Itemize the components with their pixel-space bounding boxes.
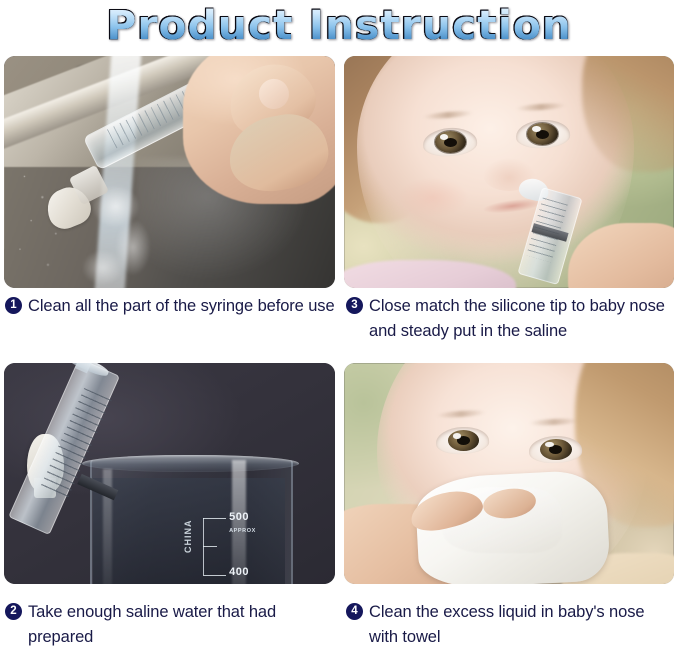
eye-glint-left bbox=[453, 433, 462, 439]
beaker-label-500: 500 bbox=[229, 511, 249, 523]
beaker-label-approx: APPROX bbox=[229, 528, 256, 534]
beaker-label-400: 400 bbox=[229, 566, 249, 578]
page-title: Product Instruction bbox=[107, 3, 573, 49]
photo-scene-step-1 bbox=[4, 56, 335, 288]
drawing-saline-photo: 500 APPROX 400 CHINA bbox=[4, 363, 335, 584]
step-number-badge-4: 4 bbox=[346, 603, 363, 620]
syringe-at-baby-nose-photo bbox=[344, 56, 674, 288]
step-number-badge-3: 3 bbox=[346, 297, 363, 314]
beaker-tick-400 bbox=[203, 575, 226, 576]
eye-glint-left bbox=[440, 134, 449, 140]
wiping-nose-photo bbox=[344, 363, 674, 584]
step-caption-3: 3 Close match the silicone tip to baby n… bbox=[346, 294, 676, 344]
beaker-tick-500 bbox=[203, 518, 226, 519]
step-caption-text-2: Take enough saline water that had prepar… bbox=[28, 600, 335, 650]
step-number-badge-1: 1 bbox=[5, 297, 22, 314]
step-caption-text-3: Close match the silicone tip to baby nos… bbox=[369, 294, 676, 344]
syringe-rinsing-photo bbox=[4, 56, 335, 288]
step-caption-4: 4 Clean the excess liquid in baby's nose… bbox=[346, 600, 676, 650]
photo-scene-step-3 bbox=[344, 56, 674, 288]
step-caption-2: 2 Take enough saline water that had prep… bbox=[5, 600, 335, 650]
eye-glint-right bbox=[532, 126, 541, 132]
step-number-badge-2: 2 bbox=[5, 603, 22, 620]
photo-scene-step-2: 500 APPROX 400 CHINA bbox=[4, 363, 335, 584]
step-caption-1: 1 Clean all the part of the syringe befo… bbox=[5, 294, 335, 319]
beaker-label-china: CHINA bbox=[183, 520, 193, 554]
page-title-band: Product Instruction bbox=[0, 0, 679, 52]
step-caption-text-4: Clean the excess liquid in baby's nose w… bbox=[369, 600, 676, 650]
step-caption-text-1: Clean all the part of the syringe before… bbox=[28, 294, 335, 319]
beaker-tick-450 bbox=[203, 546, 218, 547]
photo-scene-step-4 bbox=[344, 363, 674, 584]
